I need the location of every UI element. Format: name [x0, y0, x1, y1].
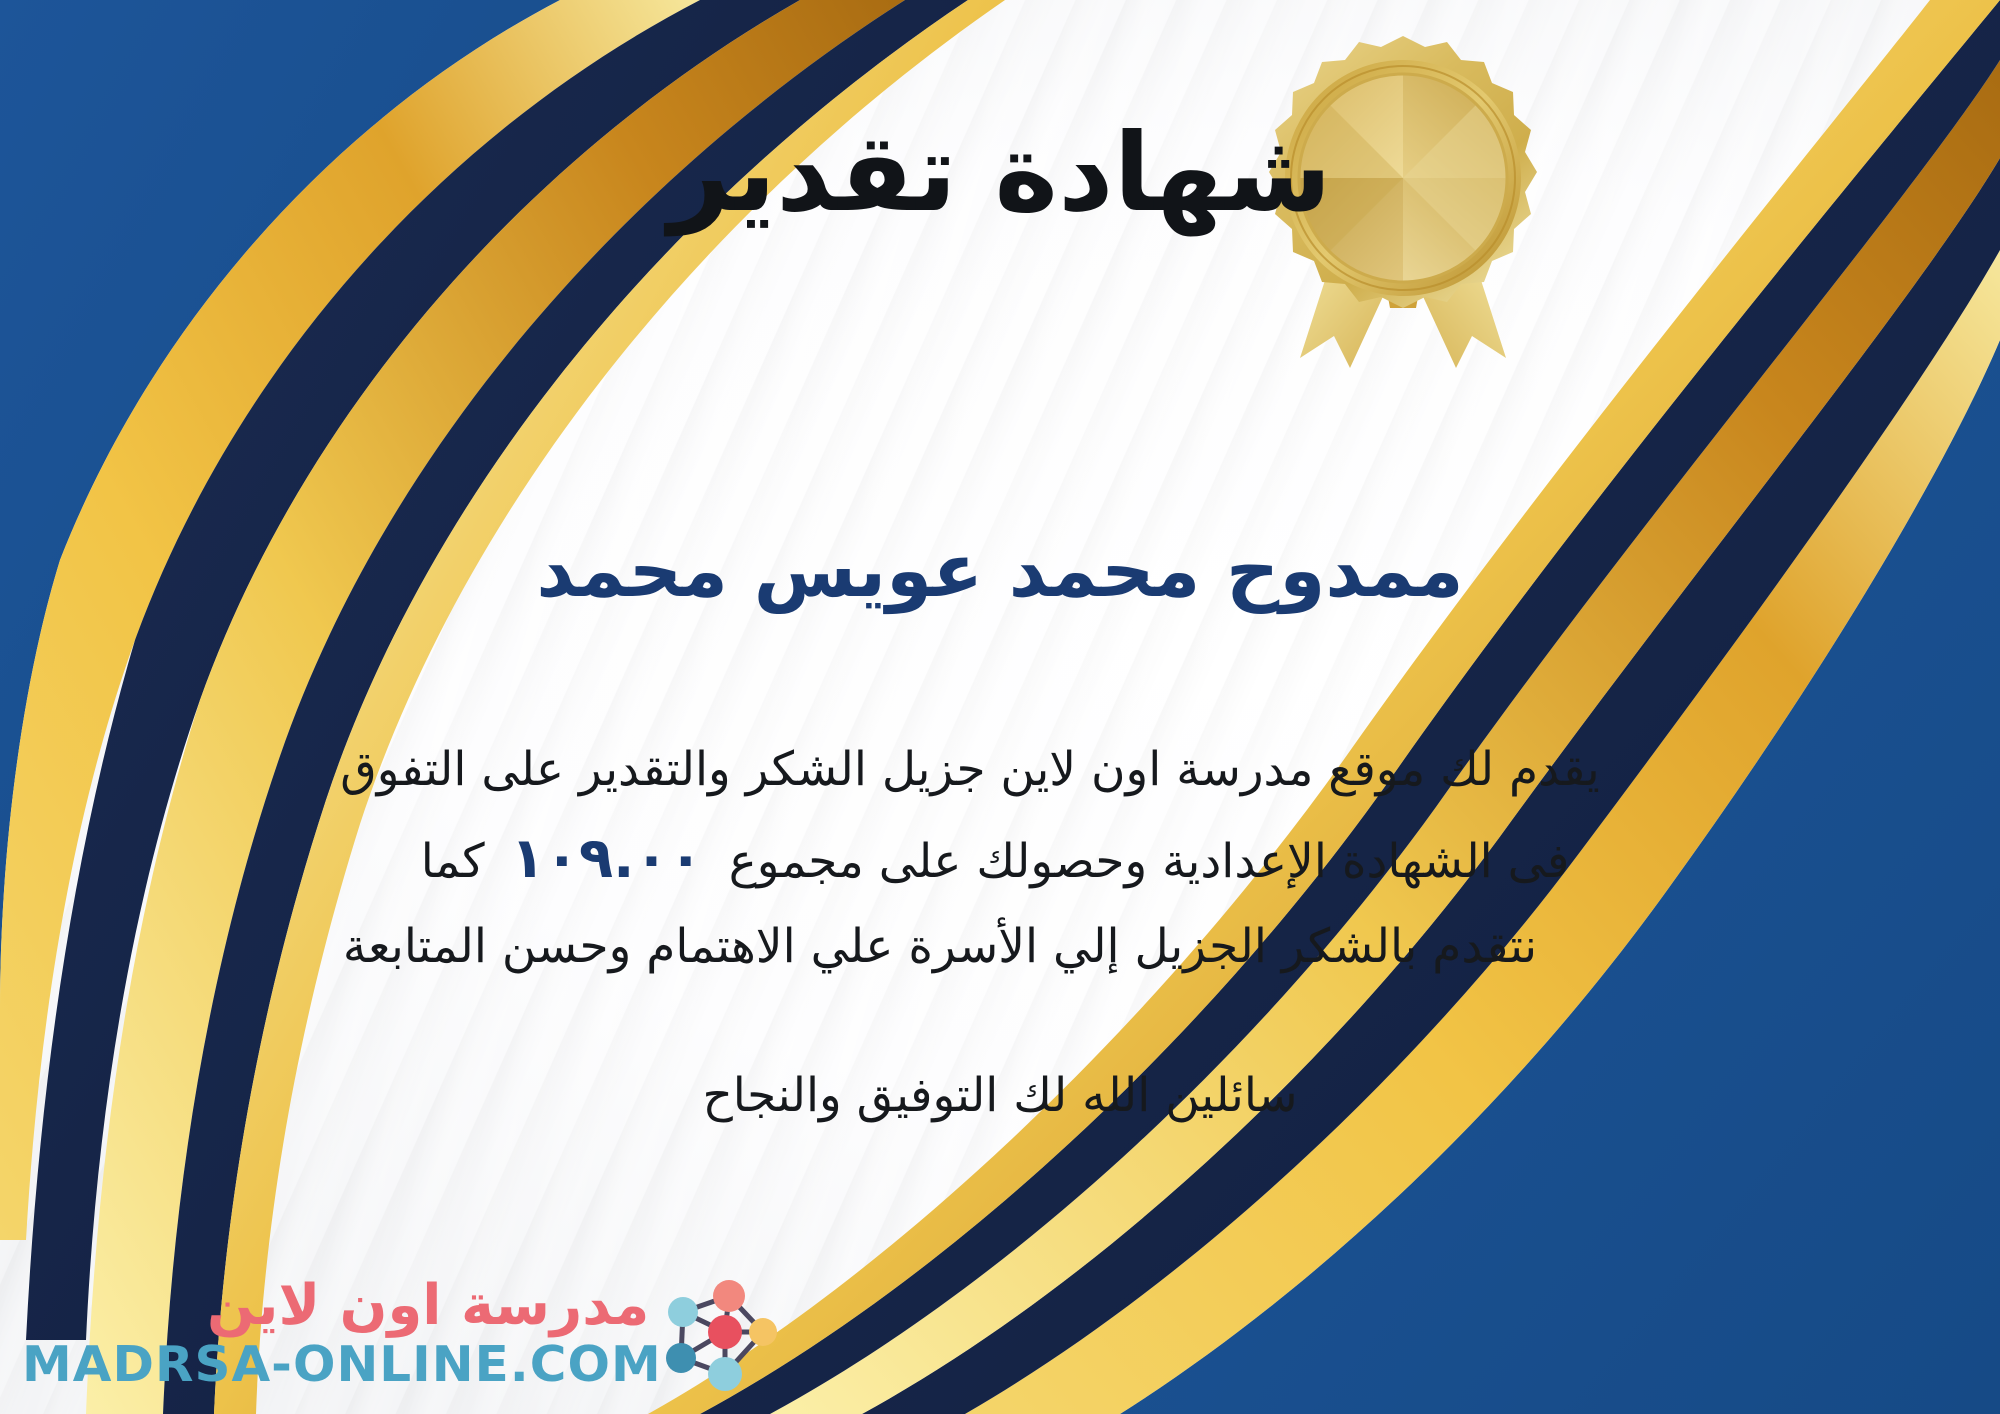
score-value: ١٠٩.٠٠	[485, 826, 729, 891]
brand-logo[interactable]: مدرسة اون لاين MADRSA-ONLINE.COM	[22, 1270, 777, 1396]
body-line-2-prefix: فى الشهادة الإعدادية وحصولك على مجموع	[729, 834, 1570, 889]
body-line-3: نتقدم بالشكر الجزيل إلي الأسرة علي الاهت…	[150, 907, 1850, 988]
certificate-page: شهادة تقدير ممدوح محمد عويس محمد يقدم لك…	[0, 0, 2000, 1414]
certificate-content: شهادة تقدير ممدوح محمد عويس محمد يقدم لك…	[0, 0, 2000, 1414]
body-line-1: يقدم لك موقع مدرسة اون لاين جزيل الشكر و…	[150, 730, 1850, 811]
closing-wish: سائلين الله لك التوفيق والنجاح	[0, 1068, 2000, 1123]
recipient-name: ممدوح محمد عويس محمد	[0, 527, 2000, 616]
page-title: شهادة تقدير	[0, 112, 2000, 236]
certificate-body: يقدم لك موقع مدرسة اون لاين جزيل الشكر و…	[150, 730, 1850, 988]
body-line-2-suffix: كما	[421, 834, 485, 889]
network-nodes-icon	[659, 1270, 777, 1396]
brand-arabic-name: مدرسة اون لاين	[207, 1278, 649, 1334]
brand-logo-text: مدرسة اون لاين MADRSA-ONLINE.COM	[22, 1278, 649, 1389]
body-line-2: فى الشهادة الإعدادية وحصولك على مجموع١٠٩…	[150, 811, 1850, 907]
brand-website-url: MADRSA-ONLINE.COM	[22, 1340, 662, 1389]
